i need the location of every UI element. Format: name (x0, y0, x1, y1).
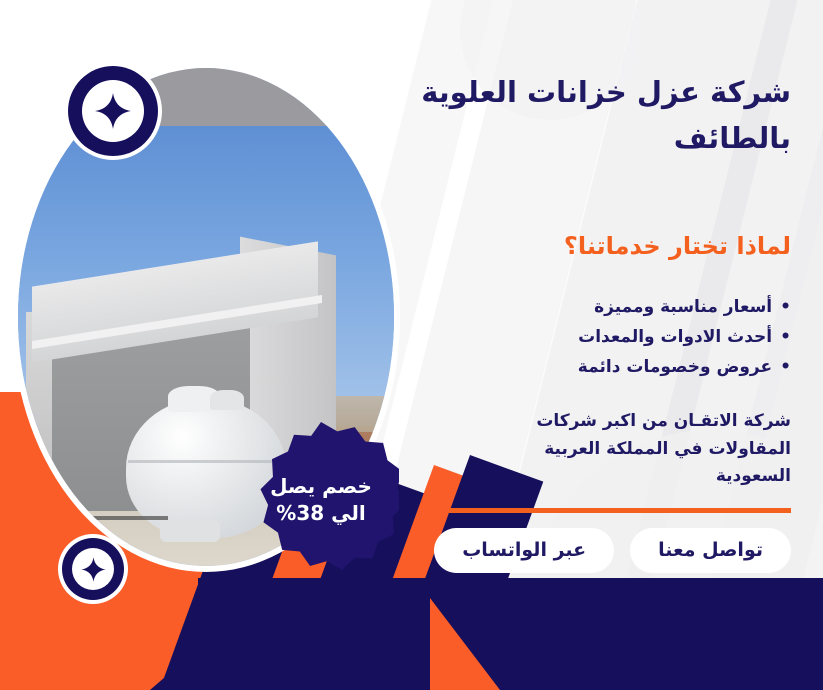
section-subtitle: لماذا تختار خدماتنا؟ (391, 232, 791, 260)
navy-bottom-band (198, 578, 823, 690)
whatsapp-button[interactable]: عبر الواتساب (434, 528, 614, 573)
brand-logo-bottom[interactable] (62, 538, 124, 600)
list-item: أحدث الادوات والمعدات (391, 323, 791, 353)
four-point-sparkle-icon (93, 91, 133, 131)
brand-logo-inner-circle (72, 548, 114, 590)
discount-badge-line-1: خصم يصل (270, 473, 372, 500)
photo-tank-base (160, 520, 220, 542)
list-item: عروض وخصومات دائمة (391, 353, 791, 383)
contact-us-button[interactable]: تواصل معنا (630, 528, 791, 573)
company-description: شركة الاتقـان من اكبر شركات المقاولات في… (481, 408, 791, 491)
four-point-sparkle-icon (80, 556, 107, 583)
orange-divider (449, 508, 791, 513)
page-title: شركة عزل خزانات العلوية بالطائف (391, 70, 791, 162)
promo-poster: خصم يصل الي 38% شركة عزل خزانات العلوية … (0, 0, 823, 690)
brand-logo-top[interactable] (68, 66, 158, 156)
photo-tank-seam (128, 460, 284, 463)
photo-tank-cap-secondary (210, 390, 244, 410)
discount-badge-line-2: الي 38% (276, 500, 365, 527)
list-item: أسعار مناسبة ومميزة (391, 293, 791, 323)
benefits-list: أسعار مناسبة ومميزة أحدث الادوات والمعدا… (391, 293, 791, 382)
brand-logo-inner-circle (82, 80, 144, 142)
photo-pipe (84, 516, 168, 520)
cta-button-row: تواصل معنا عبر الواتساب (411, 528, 791, 573)
